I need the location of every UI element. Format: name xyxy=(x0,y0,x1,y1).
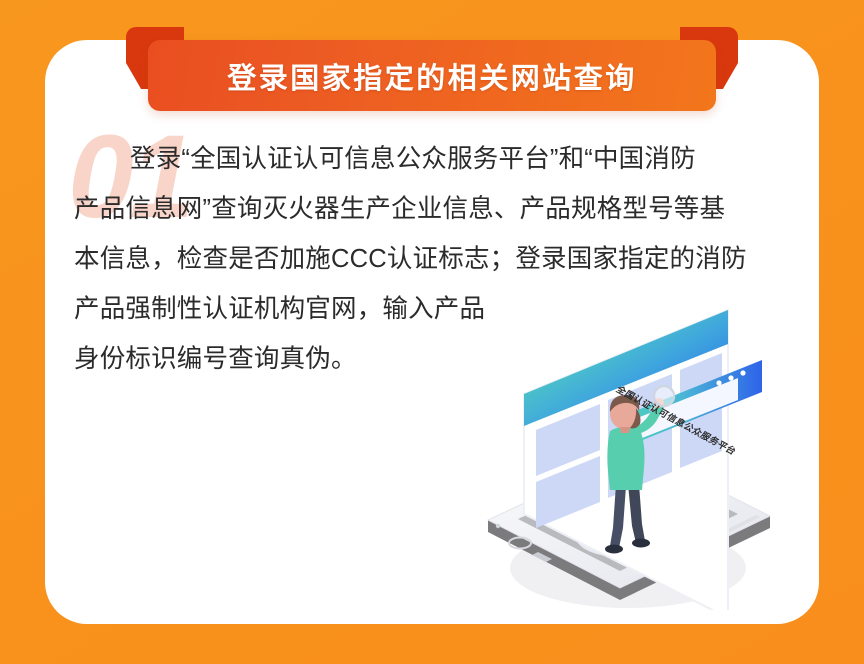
title-banner: 登录国家指定的相关网站查询 xyxy=(0,27,864,111)
window-dot-icon xyxy=(740,370,745,375)
window-dot-icon xyxy=(716,380,721,385)
person-shoe xyxy=(605,545,623,554)
poster-root: 01 登录“全国认证认可信息公众服务平台”和“中国消防 产品信息网”查询灭火器生… xyxy=(0,0,864,664)
person-shoe xyxy=(632,539,650,548)
camera-icon xyxy=(496,524,500,528)
banner-title-text: 登录国家指定的相关网站查询 xyxy=(227,55,637,97)
window-dot-icon xyxy=(728,375,733,380)
body-line-3: 本信息，检查是否加施CCC认证标志；登录国家指定的消防 xyxy=(74,234,764,284)
body-line-1: 登录“全国认证认可信息公众服务平台”和“中国消防 xyxy=(74,134,764,184)
banner-body: 登录国家指定的相关网站查询 xyxy=(148,40,716,111)
person-shirt xyxy=(607,426,644,490)
body-line-2: 产品信息网”查询灭火器生产企业信息、产品规格型号等基 xyxy=(74,184,764,234)
illustration-svg xyxy=(470,300,800,610)
illustration: 全国认证认可信息公众服务平台 xyxy=(470,300,800,610)
person-neck xyxy=(620,427,630,433)
